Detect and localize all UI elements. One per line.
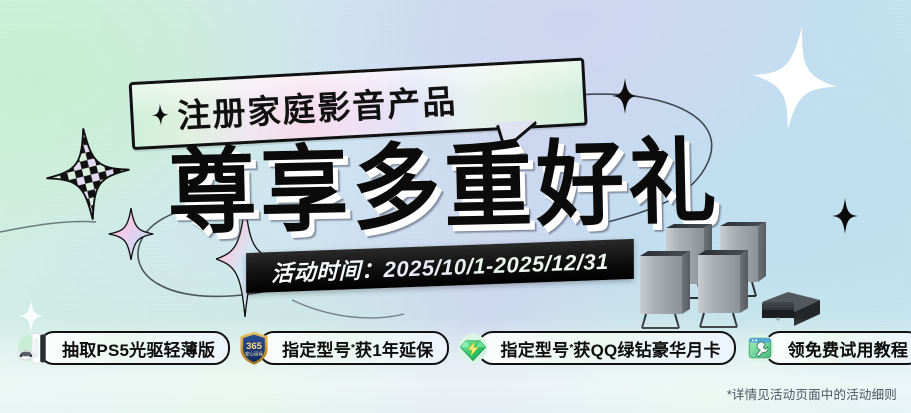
badge-qq-pill[interactable]: 指定型号*获QQ绿钻豪华月卡	[477, 331, 736, 365]
wrench-tutorial-icon	[742, 330, 778, 366]
date-bar: 活动时间：2025/10/1-2025/12/31	[246, 239, 634, 293]
badge-warranty-pill[interactable]: 指定型号*获1年延保	[258, 331, 448, 365]
badge-tutorial[interactable]: 领免费试用教程	[742, 330, 911, 366]
badge-warranty[interactable]: 365 安心延保 指定型号*获1年延保	[236, 330, 448, 366]
badge-ps5[interactable]: 抽取PS5光驱轻薄版	[16, 330, 230, 366]
badge-warranty-label-pre: 指定型号	[282, 336, 351, 361]
sparkle-icon	[151, 103, 170, 126]
badge-tutorial-label: 领免费试用教程	[788, 336, 908, 361]
white-sparkle-small-icon	[18, 300, 44, 332]
badge-qq-green-diamond[interactable]: 指定型号*获QQ绿钻豪华月卡	[455, 330, 736, 366]
warranty-shield-icon: 365 安心延保	[236, 330, 272, 366]
badge-qq-label-post: 获QQ绿钻豪华月卡	[573, 336, 720, 361]
svg-text:安心延保: 安心延保	[245, 351, 263, 358]
footnote: *详情见活动页面中的活动细则	[727, 384, 897, 403]
date-bar-text: 活动时间：2025/10/1-2025/12/31	[271, 244, 609, 288]
white-star-icon	[745, 21, 845, 136]
svg-text:365: 365	[246, 341, 262, 352]
black-sparkle-icon	[612, 78, 638, 114]
green-diamond-icon	[455, 330, 491, 366]
ps5-console-icon	[16, 330, 52, 366]
badge-warranty-label-post: 获1年延保	[355, 336, 433, 361]
badge-ps5-label: 抽取PS5光驱轻薄版	[62, 336, 215, 361]
bubble-text: 注册家庭影音产品	[176, 75, 458, 138]
promo-banner: 注册家庭影音产品 尊享多重好礼 活动时间：2025/10/1-2025/12/3…	[0, 0, 911, 413]
iridescent-star-small-icon	[108, 208, 154, 260]
badge-tutorial-pill[interactable]: 领免费试用教程	[764, 331, 911, 365]
badge-ps5-pill[interactable]: 抽取PS5光驱轻薄版	[38, 331, 230, 365]
home-theater-speakers-image	[612, 222, 874, 334]
badge-qq-label-pre: 指定型号	[501, 336, 570, 361]
benefit-badges: 抽取PS5光驱轻薄版	[16, 330, 911, 366]
